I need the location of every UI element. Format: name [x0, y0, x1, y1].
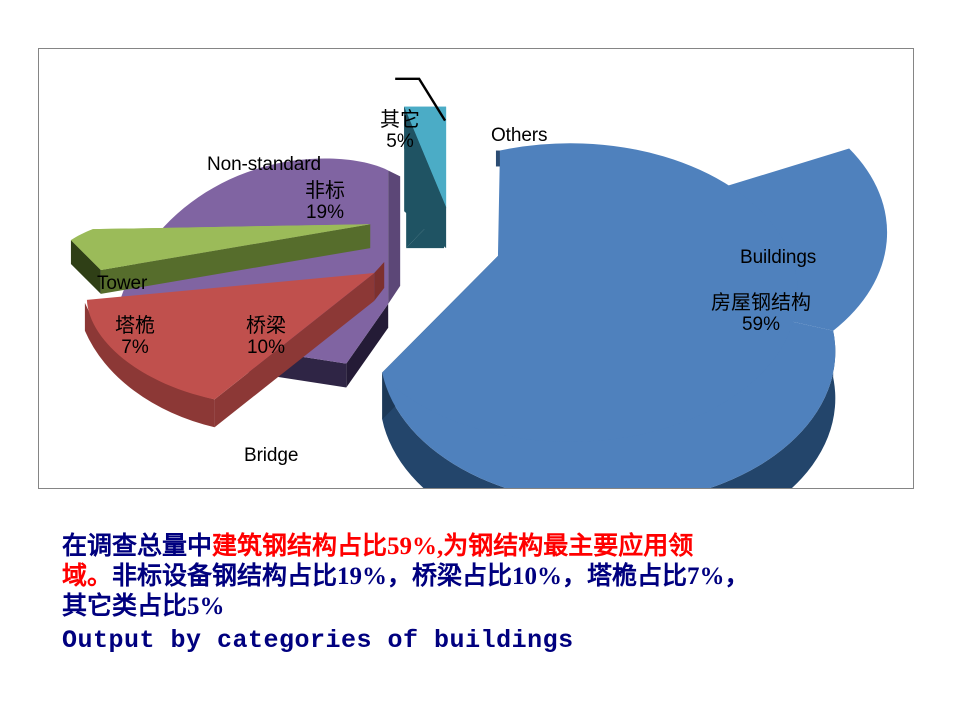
pie-label-bridge-cn-text: 桥梁 [246, 315, 286, 337]
caption-line-2: 域。非标设备钢结构占比19%，桥梁占比10%，塔桅占比7%， [62, 562, 922, 592]
pie-label-bridge-pct: 10% [246, 337, 286, 358]
caption-block: 在调查总量中建筑钢结构占比59%,为钢结构最主要应用领 域。非标设备钢结构占比1… [62, 532, 922, 658]
pie-label-nonstandard-pct: 19% [305, 202, 345, 223]
pie-label-others-cn: 其它 5% [380, 109, 420, 153]
pie-label-others-pct: 5% [380, 131, 420, 152]
caption-line-1: 在调查总量中建筑钢结构占比59%,为钢结构最主要应用领 [62, 532, 922, 562]
pie-label-tower-cn-text: 塔桅 [115, 315, 155, 337]
pie-label-bridge-en: Bridge [244, 445, 298, 466]
pie-label-bridge-cn: 桥梁 10% [246, 315, 286, 359]
pie-label-tower-cn: 塔桅 7% [115, 315, 155, 359]
caption-line-english: Output by categories of buildings [62, 624, 922, 658]
pie-label-others-cn-text: 其它 [380, 109, 420, 131]
caption-line-1-red: 建筑钢结构占比59%,为钢结构最主要应用领 [212, 533, 693, 560]
pie-label-nonstandard-en: Non-standard [207, 154, 321, 175]
caption-line-2-red: 域。 [62, 563, 112, 590]
pie-label-tower-en: Tower [97, 273, 147, 294]
pie-label-others-en: Others [491, 125, 547, 146]
pie-label-buildings-en: Buildings [740, 247, 816, 268]
pie-label-buildings-cn-text: 房屋钢结构 [711, 292, 811, 314]
caption-line-1-black: 在调查总量中 [62, 533, 212, 560]
slide-canvas: Others 其它 5% Non-standard 非标 19% Tower 塔… [0, 0, 960, 720]
pie-label-tower-pct: 7% [115, 337, 155, 358]
caption-line-3: 其它类占比5% [62, 592, 922, 622]
pie-label-nonstandard-cn: 非标 19% [305, 180, 345, 224]
pie-chart-frame: Others 其它 5% Non-standard 非标 19% Tower 塔… [38, 48, 914, 489]
pie-slice-buildings[interactable] [382, 92, 887, 488]
pie-label-nonstandard-cn-text: 非标 [305, 180, 345, 202]
pie-label-buildings-cn: 房屋钢结构 59% [711, 292, 811, 336]
pie-chart-graphic [39, 49, 913, 488]
caption-line-2-black: 非标设备钢结构占比19%，桥梁占比10%，塔桅占比7%， [112, 563, 750, 590]
pie-label-buildings-pct: 59% [711, 314, 811, 335]
